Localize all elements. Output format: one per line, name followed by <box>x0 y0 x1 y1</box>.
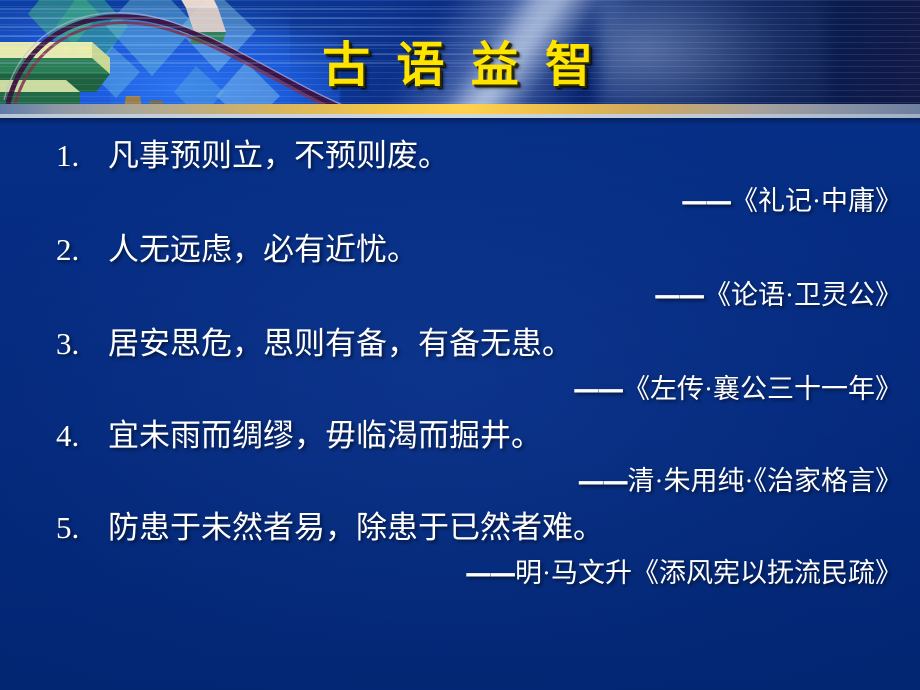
source-text: 明·马文升《添风宪以抚流民疏》 <box>515 558 902 588</box>
quote-list: 1. 凡事预则立，不预则废。 ——《礼记·中庸》 2. 人无远虑，必有近忧。 —… <box>0 130 920 690</box>
em-dash: —— <box>465 558 514 589</box>
list-item-quote: 居安思危，思则有备，有备无患。 <box>108 318 573 363</box>
list-item-number: 1. <box>56 138 108 174</box>
list-item: 1. 凡事预则立，不预则废。 ——《礼记·中庸》 <box>0 130 920 218</box>
quote-row: 4. 宜未雨而绸缪，毋临渴而掘井。 <box>0 410 920 455</box>
presentation-slide: 古 语 益 智 1. 凡事预则立，不预则废。 ——《礼记·中庸》 2. 人无远虑… <box>0 0 920 690</box>
header-divider-highlight <box>0 114 920 118</box>
em-dash: —— <box>577 466 626 497</box>
list-item: 2. 人无远虑，必有近忧。 ——《论语·卫灵公》 <box>0 224 920 312</box>
em-dash: —— <box>573 374 622 405</box>
em-dash: —— <box>654 280 703 311</box>
em-dash: —— <box>681 186 730 217</box>
header-divider-shadow <box>0 118 920 125</box>
list-item-number: 2. <box>56 232 108 268</box>
quote-row: 5. 防患于未然者易，除患于已然者难。 <box>0 502 920 547</box>
list-item-quote: 宜未雨而绸缪，毋临渴而掘井。 <box>108 410 542 455</box>
list-item-quote: 人无远虑，必有近忧。 <box>108 224 418 269</box>
header-divider-gold-bar <box>0 104 920 114</box>
quote-row: 3. 居安思危，思则有备，有备无患。 <box>0 318 920 363</box>
list-item-number: 4. <box>56 418 108 454</box>
list-item-source: ——《论语·卫灵公》 <box>0 273 920 312</box>
page-title: 古 语 益 智 <box>0 25 920 95</box>
list-item: 5. 防患于未然者易，除患于已然者难。 ——明·马文升《添风宪以抚流民疏》 <box>0 502 920 590</box>
source-text: 清·朱用纯·《治家格言》 <box>628 466 902 496</box>
list-item: 4. 宜未雨而绸缪，毋临渴而掘井。 ——清·朱用纯·《治家格言》 <box>0 410 920 498</box>
source-text: 《论语·卫灵公》 <box>704 280 902 310</box>
source-text: 《左传·襄公三十一年》 <box>623 374 902 404</box>
list-item-number: 3. <box>56 326 108 362</box>
list-item-quote: 防患于未然者易，除患于已然者难。 <box>108 502 604 547</box>
quote-row: 2. 人无远虑，必有近忧。 <box>0 224 920 269</box>
list-item-source: ——《礼记·中庸》 <box>0 179 920 218</box>
list-item: 3. 居安思危，思则有备，有备无患。 ——《左传·襄公三十一年》 <box>0 318 920 406</box>
list-item-source: ——清·朱用纯·《治家格言》 <box>0 459 920 498</box>
list-item-source: ——《左传·襄公三十一年》 <box>0 367 920 406</box>
list-item-number: 5. <box>56 510 108 546</box>
list-item-source: ——明·马文升《添风宪以抚流民疏》 <box>0 551 920 590</box>
source-text: 《礼记·中庸》 <box>731 186 902 216</box>
list-item-quote: 凡事预则立，不预则废。 <box>108 130 449 175</box>
quote-row: 1. 凡事预则立，不预则废。 <box>0 130 920 175</box>
